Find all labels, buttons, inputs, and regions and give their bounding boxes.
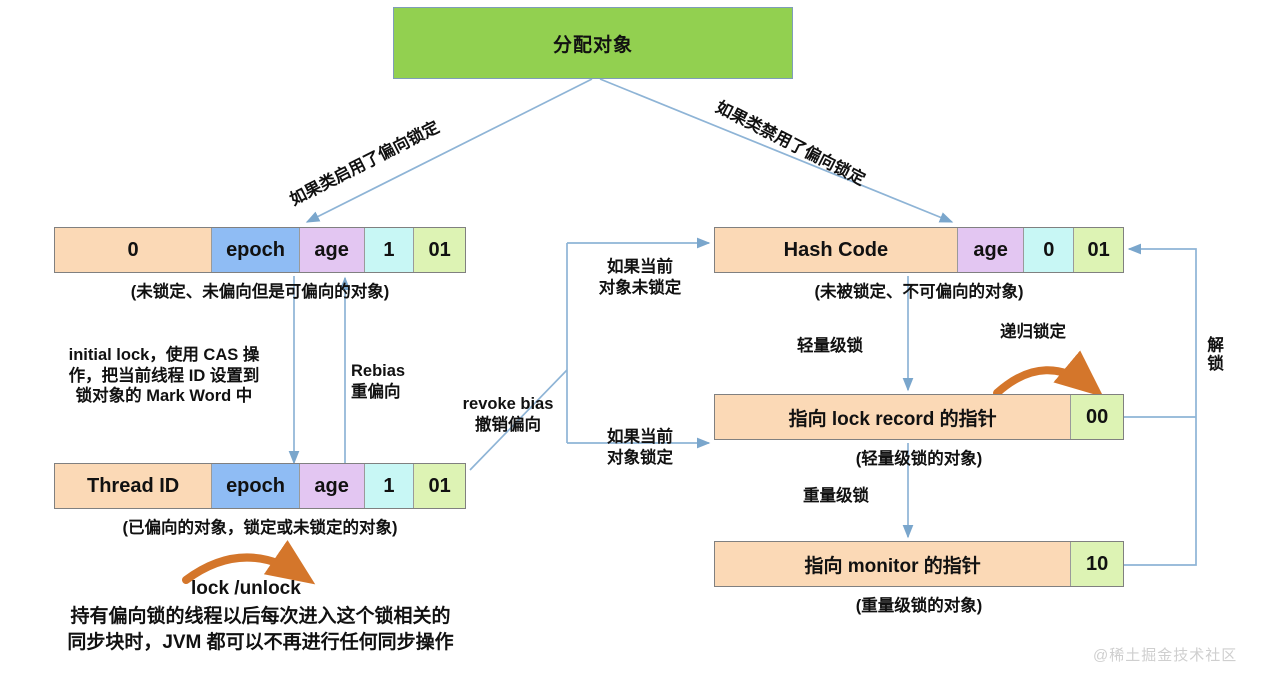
edge-label-rebias: Rebias 重偏向 (351, 361, 405, 402)
markword-cell-locktag: 01 (414, 464, 465, 508)
markword-cell-biasflag: 1 (365, 228, 415, 272)
markword-cell-biasflag: 0 (1024, 228, 1074, 272)
markword-biasable[interactable]: 0 epoch age 1 01 (54, 227, 466, 273)
edge-label-initial-lock: initial lock，使用 CAS 操 作，把当前线程 ID 设置到 锁对象… (44, 345, 284, 407)
markword-cell-locktag: 01 (1074, 228, 1123, 272)
edge-label-recursive-lock: 递归锁定 (1000, 322, 1066, 343)
markword-cell-locktag: 01 (414, 228, 465, 272)
edge-label-lightweight-lock: 轻量级锁 (797, 336, 863, 357)
markword-cell-lock-record-pointer: 指向 lock record 的指针 (715, 395, 1071, 439)
markword-biased[interactable]: Thread ID epoch age 1 01 (54, 463, 466, 509)
edge-label-if-unlocked: 如果当前 对象未锁定 (578, 257, 702, 298)
bottom-note: 持有偏向锁的线程以后每次进入这个锁相关的 同步块时，JVM 都可以不再进行任何同… (8, 604, 513, 655)
diagram-canvas: 分配对象 如果类启用了偏向锁定 如果类禁用了偏向锁定 0 epoch age 1… (0, 0, 1269, 686)
edge-label-heavyweight-lock: 重量级锁 (803, 486, 869, 507)
markword-cell-monitor-pointer: 指向 monitor 的指针 (715, 542, 1071, 586)
markword-hashcode[interactable]: Hash Code age 0 01 (714, 227, 1124, 273)
markword-cell-epoch: epoch (212, 228, 300, 272)
caption-lock-record: (轻量级锁的对象) (714, 445, 1124, 469)
node-allocate-object-label: 分配对象 (553, 30, 633, 57)
markword-cell-age: age (300, 464, 365, 508)
caption-monitor: (重量级锁的对象) (714, 592, 1124, 616)
markword-cell-age: age (300, 228, 365, 272)
edge-label-unlock: 解锁 (1203, 336, 1224, 373)
markword-cell-hash-zero: 0 (55, 228, 212, 272)
caption-hashcode: (未被锁定、不可偏向的对象) (714, 278, 1124, 302)
watermark: @稀土掘金技术社区 (1093, 644, 1237, 665)
markword-cell-epoch: epoch (212, 464, 300, 508)
markword-cell-biasflag: 1 (365, 464, 415, 508)
markword-cell-locktag: 00 (1071, 395, 1123, 439)
markword-monitor[interactable]: 指向 monitor 的指针 10 (714, 541, 1124, 587)
markword-lock-record[interactable]: 指向 lock record 的指针 00 (714, 394, 1124, 440)
caption-biased: (已偏向的对象，锁定或未锁定的对象) (44, 514, 476, 538)
markword-cell-locktag: 10 (1071, 542, 1123, 586)
markword-cell-age: age (958, 228, 1025, 272)
edge-label-bias-disabled: 如果类禁用了偏向锁定 (712, 97, 868, 190)
node-allocate-object[interactable]: 分配对象 (393, 7, 793, 79)
edge-label-revoke-bias: revoke bias 撤销偏向 (443, 394, 573, 435)
caption-biasable: (未锁定、未偏向但是可偏向的对象) (54, 278, 466, 302)
edge-label-bias-enabled: 如果类启用了偏向锁定 (287, 117, 443, 210)
edge-label-if-locked: 如果当前 对象锁定 (578, 427, 702, 468)
markword-cell-thread-id: Thread ID (55, 464, 212, 508)
edge-label-lock-unlock: lock /unlock (191, 578, 301, 600)
markword-cell-hash-code: Hash Code (715, 228, 958, 272)
